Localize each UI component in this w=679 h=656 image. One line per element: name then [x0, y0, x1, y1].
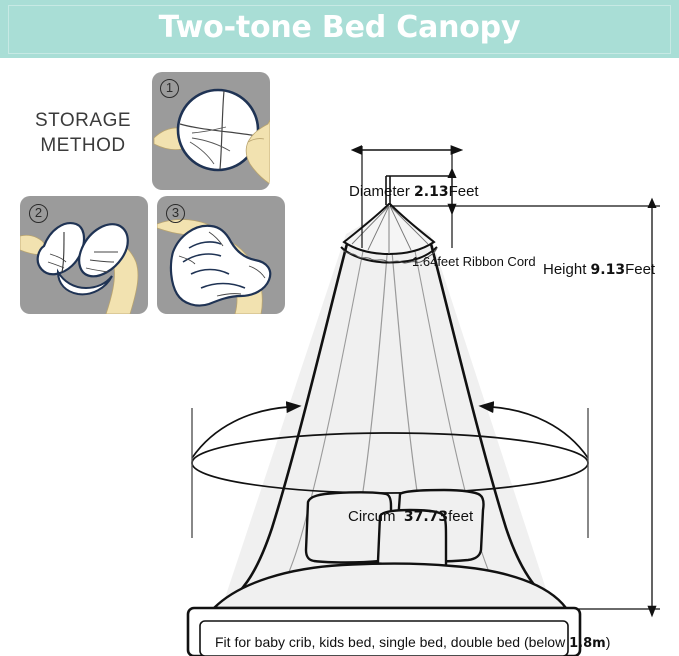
circum-prefix: Circum [348, 508, 396, 525]
canopy-dimension-diagram: Diameter 2.13Feet 1.64feet Ribbon Cord H… [0, 58, 679, 656]
height-label: Height 9.13Feet [543, 261, 655, 278]
ribbon-value: 1.64 [412, 254, 437, 269]
bed-caption-value: 1.8m [569, 636, 606, 651]
bed-fit-caption: Fit for baby crib, kids bed, single bed,… [215, 634, 610, 651]
circum-value: 37.73 [404, 509, 448, 525]
canopy-diagram-svg [0, 58, 679, 656]
page-title: Two-tone Bed Canopy [0, 0, 679, 58]
ribbon-cord-label: 1.64feet Ribbon Cord [412, 254, 536, 269]
ribbon-suffix: Ribbon Cord [463, 254, 536, 269]
bed-caption-text: Fit for baby crib, kids bed, single bed,… [215, 634, 565, 650]
height-value: 9.13 [591, 262, 626, 278]
height-prefix: Height [543, 261, 586, 278]
circumference-label: Circum 37.73feet [348, 508, 473, 525]
diameter-label: Diameter 2.13Feet [349, 183, 479, 200]
header-banner: Two-tone Bed Canopy [0, 0, 679, 58]
diameter-prefix: Diameter [349, 183, 410, 200]
height-unit: Feet [625, 261, 655, 278]
diameter-value: 2.13 [414, 184, 449, 200]
circum-unit: feet [448, 508, 473, 525]
diameter-unit: Feet [449, 183, 479, 200]
ribbon-unit: feet [437, 254, 459, 269]
bed-caption-close: ) [606, 634, 611, 650]
